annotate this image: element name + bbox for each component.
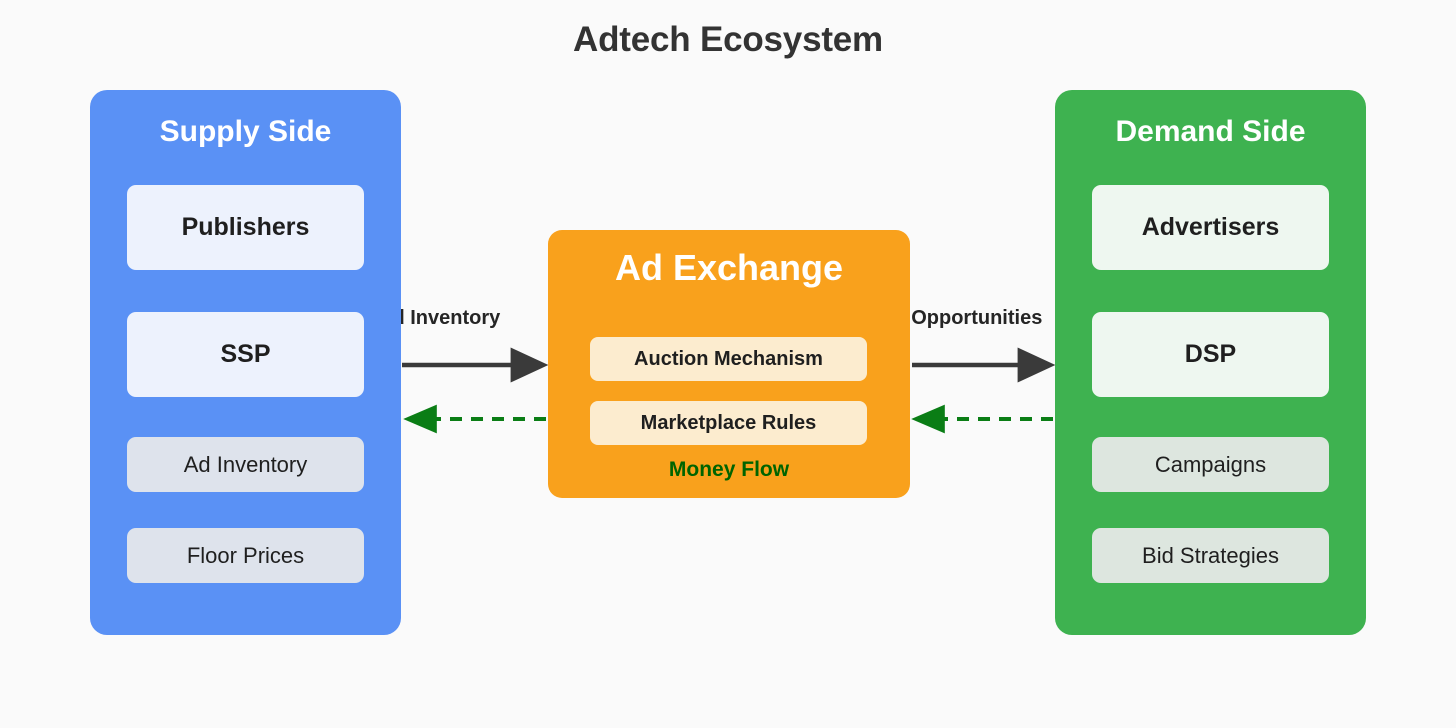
demand-item-dsp[interactable]: DSP bbox=[1092, 312, 1329, 397]
demand-item-advertisers[interactable]: Advertisers bbox=[1092, 185, 1329, 270]
ad-exchange-title: Ad Exchange bbox=[548, 247, 910, 289]
demand-item-campaigns[interactable]: Campaigns bbox=[1092, 437, 1329, 492]
supply-item-floor-prices[interactable]: Floor Prices bbox=[127, 528, 364, 583]
demand-side-title: Demand Side bbox=[1055, 115, 1366, 149]
supply-item-ssp[interactable]: SSP bbox=[127, 312, 364, 397]
exchange-item-auction-mechanism[interactable]: Auction Mechanism bbox=[590, 337, 867, 381]
demand-side-panel[interactable]: Demand Side Advertisers DSP Campaigns Bi… bbox=[1055, 90, 1366, 635]
supply-item-label: Floor Prices bbox=[187, 543, 304, 569]
exchange-item-label: Marketplace Rules bbox=[641, 412, 817, 435]
supply-item-label: SSP bbox=[220, 340, 270, 369]
exchange-item-label: Auction Mechanism bbox=[634, 348, 823, 371]
supply-item-ad-inventory[interactable]: Ad Inventory bbox=[127, 437, 364, 492]
ad-exchange-panel[interactable]: Ad Exchange Auction Mechanism Marketplac… bbox=[548, 230, 910, 498]
supply-item-label: Publishers bbox=[182, 213, 310, 242]
supply-side-panel[interactable]: Supply Side Publishers SSP Ad Inventory … bbox=[90, 90, 401, 635]
demand-item-bid-strategies[interactable]: Bid Strategies bbox=[1092, 528, 1329, 583]
demand-item-label: Bid Strategies bbox=[1142, 543, 1279, 569]
demand-item-label: Advertisers bbox=[1142, 213, 1280, 242]
demand-item-label: Campaigns bbox=[1155, 452, 1266, 478]
supply-side-title: Supply Side bbox=[90, 115, 401, 149]
exchange-item-marketplace-rules[interactable]: Marketplace Rules bbox=[590, 401, 867, 445]
demand-item-label: DSP bbox=[1185, 340, 1236, 369]
supply-item-label: Ad Inventory bbox=[184, 452, 308, 478]
supply-item-publishers[interactable]: Publishers bbox=[127, 185, 364, 270]
money-flow-label: Money Flow bbox=[548, 458, 910, 482]
